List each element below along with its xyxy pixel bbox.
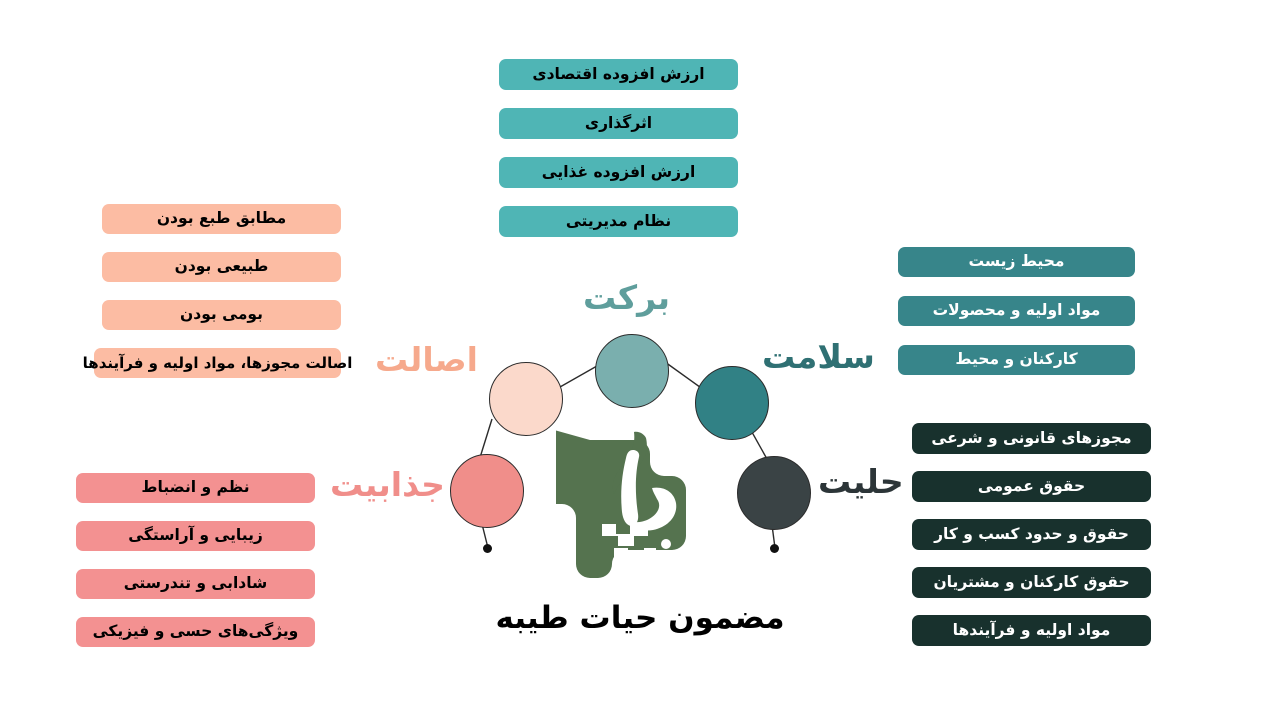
salamat-item-1[interactable]: محیط زیست [898,247,1135,277]
node-esalat[interactable] [489,362,563,436]
salamat-item-2[interactable]: مواد اولیه و محصولات [898,296,1135,326]
jazzabiat-item-1[interactable]: نظم و انضباط [76,473,315,503]
caption-jazzabiat: جذابیت [330,468,445,501]
endpoint-dot-left [483,544,492,553]
node-halliyat[interactable] [737,456,811,530]
esalat-item-3[interactable]: بومی بودن [102,300,341,330]
endpoint-dot-right [770,544,779,553]
caption-salamat: سلامت [762,340,875,373]
infographic-canvas: ارزش افزوده اقتصادی اثرگذاری ارزش افزوده… [0,0,1280,720]
halliyat-item-3[interactable]: حقوق و حدود کسب و کار [912,519,1151,550]
jazzabiat-item-2[interactable]: زیبایی و آراستگی [76,521,315,551]
barakat-item-1[interactable]: ارزش افزوده اقتصادی [499,59,738,90]
barakat-item-2[interactable]: اثرگذاری [499,108,738,139]
node-jazzabiat[interactable] [450,454,524,528]
esalat-item-1[interactable]: مطابق طبع بودن [102,204,341,234]
node-barakat[interactable] [595,334,669,408]
caption-barakat: برکت [583,281,670,314]
esalat-item-2[interactable]: طبیعی بودن [102,252,341,282]
caption-esalat: اصالت [375,343,478,376]
barakat-item-3[interactable]: ارزش افزوده غذایی [499,157,738,188]
halliyat-item-2[interactable]: حقوق عمومی [912,471,1151,502]
jazzabiat-item-3[interactable]: شادابی و تندرستی [76,569,315,599]
tayyebeh-logo [556,424,718,586]
barakat-item-4[interactable]: نظام مدیریتی [499,206,738,237]
page-title: مضمون حیات طیبه [0,601,1280,635]
salamat-item-3[interactable]: کارکنان و محیط [898,345,1135,375]
esalat-item-4[interactable]: اصالت مجوزها، مواد اولیه و فرآیندها [94,348,341,378]
halliyat-item-1[interactable]: مجوزهای قانونی و شرعی [912,423,1151,454]
caption-halliyat: حلیت [818,465,904,498]
halliyat-item-4[interactable]: حقوق کارکنان و مشتریان [912,567,1151,598]
